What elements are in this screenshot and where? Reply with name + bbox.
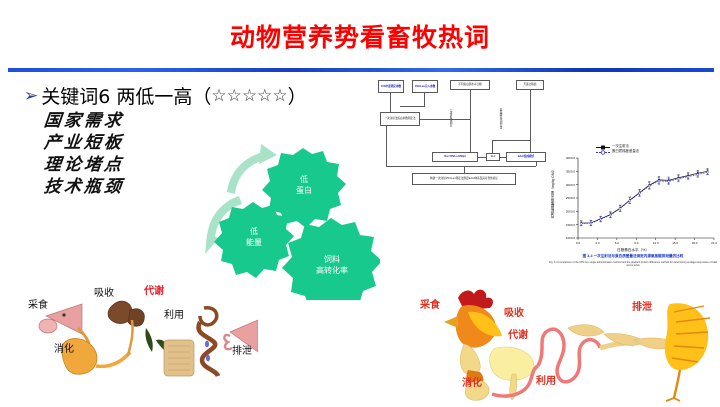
chart-y-axis-label: 内源氨基酸排出量（mg/kg DMI） (550, 168, 555, 218)
calligraphy-line: 产业短板 (43, 132, 125, 154)
pig-utilization-leaf (145, 328, 152, 352)
chart-x-axis-label: 日粮蛋白水平（%） (548, 248, 718, 253)
chicken-crop (460, 344, 480, 375)
flow-box: 15N丰度测定参数 (378, 80, 404, 93)
svg-text:3500.0: 3500.0 (566, 170, 576, 174)
flow-box: EL2 (486, 153, 500, 161)
chicken-label-digestion: 消化 (462, 374, 482, 389)
bullet-arrow-icon: ➢ (24, 86, 38, 106)
flow-box: 不同蛋白质水平日粮 (450, 80, 490, 90)
legend-marker-filled-square (596, 145, 610, 148)
legend-item: 蛋白质梯度差量法 (596, 149, 639, 154)
chicken-label-metabolism: 代谢 (508, 326, 528, 341)
flow-box: Ra=15N1-n/15Npl (432, 152, 478, 162)
endogenous-aa-chart: 一次注射法 蛋白质梯度差量法 内源氨基酸排出量（mg/kg DMI） 日粮蛋白水… (548, 142, 718, 272)
flow-box: 一次注射法蛋白参数测定法 (380, 112, 420, 126)
pig-diagram-svg (18, 282, 258, 392)
chart-caption-cn: 图 3-4 一次注射法与蛋白质差量法测定内源氨基酸排泄量的比较 (548, 254, 718, 259)
svg-text:21.0: 21.0 (711, 241, 717, 245)
pig-label-intake: 采食 (28, 296, 48, 311)
legend-label: 蛋白质梯度差量法 (612, 149, 639, 154)
gear-diagram-svg (205, 130, 380, 300)
title-divider (8, 68, 714, 72)
pig-large-intestine (200, 308, 217, 325)
chart-plot-area: 1000.01500.02000.02500.03000.03500.04000… (548, 142, 718, 250)
svg-text:2000.0: 2000.0 (566, 210, 576, 214)
pig-label-metabolism: 代谢 (144, 282, 164, 297)
keyword-bullet-text: 关键词6 两低一高（ (41, 82, 211, 109)
calligraphy-block: 国家需求 产业短板 理论堵点 技术瓶颈 (44, 110, 124, 198)
calligraphy-line: 理论堵点 (43, 154, 125, 176)
svg-text:1500.0: 1500.0 (566, 223, 576, 227)
pig-label-excretion: 排泄 (232, 342, 252, 357)
flow-vlabel: 氨基酸氧化测定法 (498, 108, 502, 142)
svg-text:2500.0: 2500.0 (566, 196, 576, 200)
chicken-label-excretion: 排泄 (632, 298, 652, 313)
pig-snout (39, 319, 57, 333)
svg-text:6.0: 6.0 (615, 241, 620, 245)
svg-text:15.0: 15.0 (672, 241, 678, 245)
page-title: 动物营养势看畜牧热词 (0, 18, 720, 54)
svg-text:4000.0: 4000.0 (566, 156, 576, 160)
gear-high-feed-conversion (282, 218, 380, 300)
svg-text:1000.0: 1000.0 (566, 236, 576, 240)
chicken-label-intake: 采食 (420, 296, 440, 311)
keyword-bullet-row: ➢ 关键词6 两低一高（ ☆☆☆☆☆ ） (24, 82, 307, 109)
svg-text:18.0: 18.0 (692, 241, 698, 245)
pig-label-absorption: 吸收 (94, 284, 114, 299)
svg-text:9.0: 9.0 (634, 241, 639, 245)
legend-marker-open-circle (596, 150, 610, 153)
flow-vlabel: 一次注射法测定 (448, 108, 452, 140)
pig-digestion-diagram: 采食 吸收 代谢 利用 消化 排泄 (18, 282, 258, 392)
flow-box: 构建一次注射15N-Leu测定法测定EAAI体系及其可靠性验证 (412, 173, 516, 185)
chicken-label-absorption: 吸收 (504, 304, 524, 319)
svg-text:0.0: 0.0 (576, 241, 581, 245)
star-rating: ☆☆☆☆☆ (211, 86, 287, 106)
chart-caption-en: Fig. 3-4 Comparison of the 15N-Leu singl… (548, 261, 718, 268)
calligraphy-line: 技术瓶颈 (43, 176, 125, 198)
gear-diagram: 低蛋白 低能量 饲料高转化率 (205, 130, 380, 300)
flowchart-thumbnail: 15N丰度测定参数 15N-Leu引入参数 不同蛋白质水平日粮 灭菌日粮组 一次… (376, 74, 554, 186)
flow-box: EAAI组成模式 (506, 152, 546, 162)
bullet-close-paren: ） (288, 82, 307, 109)
pig-label-utilization: 利用 (164, 306, 184, 321)
pig-label-digestion: 消化 (54, 340, 74, 355)
chart-legend: 一次注射法 蛋白质梯度差量法 (596, 144, 639, 154)
chicken-label-utilization: 利用 (536, 372, 556, 387)
chicken-digestion-diagram: 采食 吸收 代谢 消化 利用 排泄 (418, 282, 718, 402)
slide-canvas: 动物营养势看畜牧热词 ➢ 关键词6 两低一高（ ☆☆☆☆☆ ） 国家需求 产业短… (0, 0, 720, 405)
svg-text:3000.0: 3000.0 (566, 183, 576, 187)
svg-text:3.0: 3.0 (595, 241, 600, 245)
calligraphy-line: 国家需求 (43, 110, 125, 132)
flow-box: 灭菌日粮组 (516, 80, 544, 90)
flow-box: 15N-Leu引入参数 (412, 80, 438, 93)
svg-text:12.0: 12.0 (653, 241, 659, 245)
